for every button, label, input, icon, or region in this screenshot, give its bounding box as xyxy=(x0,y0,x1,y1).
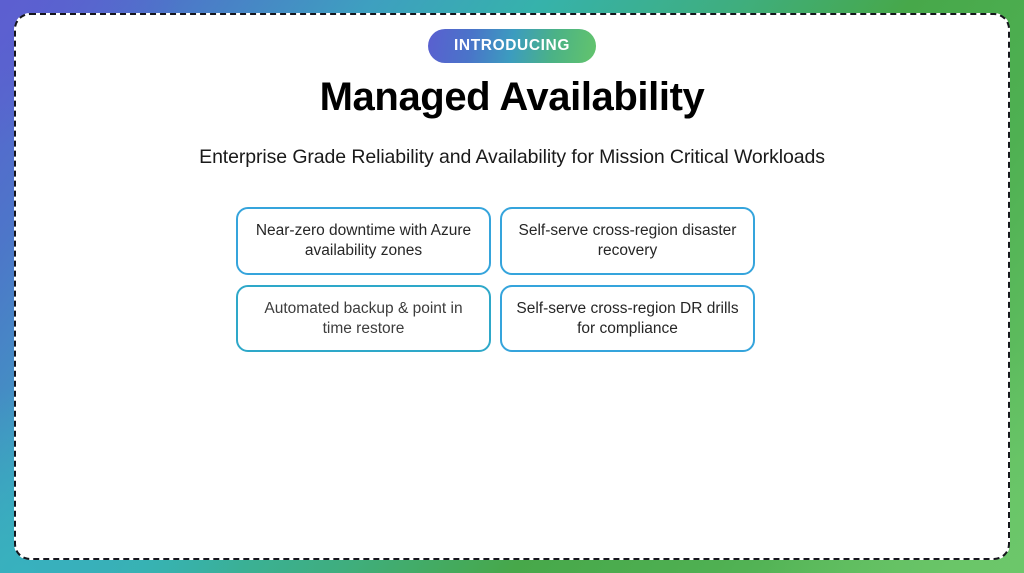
feature-card[interactable]: Self-serve cross-region DR drills for co… xyxy=(500,285,755,352)
feature-card-label: Self-serve cross-region DR drills for co… xyxy=(512,299,743,339)
introducing-badge: INTRODUCING xyxy=(428,29,596,63)
feature-card-label: Near-zero downtime with Azure availabili… xyxy=(248,221,479,261)
feature-card-label: Automated backup & point in time restore xyxy=(248,299,479,339)
slide-gradient-frame: INTRODUCING Managed Availability Enterpr… xyxy=(0,0,1024,573)
page-subtitle: Enterprise Grade Reliability and Availab… xyxy=(0,146,1024,169)
page-title: Managed Availability xyxy=(0,74,1024,120)
feature-card[interactable]: Self-serve cross-region disaster recover… xyxy=(500,207,755,275)
feature-card-label: Self-serve cross-region disaster recover… xyxy=(512,221,743,261)
feature-card-grid: Near-zero downtime with Azure availabili… xyxy=(236,207,755,352)
feature-card[interactable]: Automated backup & point in time restore xyxy=(236,285,491,352)
feature-card[interactable]: Near-zero downtime with Azure availabili… xyxy=(236,207,491,275)
